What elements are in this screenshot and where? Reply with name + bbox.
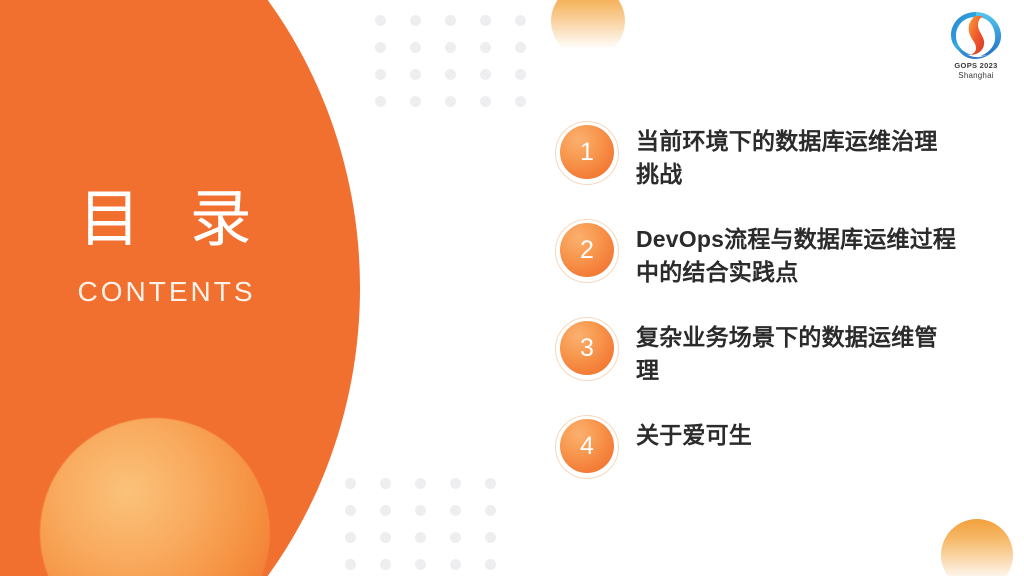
dot: [375, 69, 386, 80]
dot: [450, 559, 461, 570]
dot: [515, 69, 526, 80]
dot: [480, 69, 491, 80]
agenda-badge-3: 3: [552, 314, 620, 384]
agenda-item-label: DevOps流程与数据库运维过程中的结合实践点: [636, 216, 958, 288]
agenda-item-label: 复杂业务场景下的数据运维管理: [636, 314, 958, 386]
badge-number: 3: [560, 321, 614, 375]
dot: [415, 505, 426, 516]
dot: [480, 15, 491, 26]
dot-grid-bottom: [345, 478, 520, 576]
accent-circle-top: [551, 0, 625, 58]
dot: [485, 559, 496, 570]
dot: [515, 15, 526, 26]
dot: [410, 42, 421, 53]
agenda-badge-1: 1: [552, 118, 620, 188]
dot: [515, 42, 526, 53]
page-subtitle: CONTENTS: [0, 276, 330, 308]
dot: [415, 532, 426, 543]
dot: [375, 15, 386, 26]
dot: [415, 559, 426, 570]
dot: [485, 532, 496, 543]
dot: [375, 42, 386, 53]
dot: [380, 478, 391, 489]
badge-number: 2: [560, 223, 614, 277]
dot: [410, 69, 421, 80]
dot: [450, 505, 461, 516]
dot: [445, 15, 456, 26]
agenda-list: 1 当前环境下的数据库运维治理挑战 2 DevOps流程与数据库运维过程中的结合…: [552, 118, 972, 510]
agenda-item-label: 关于爱可生: [636, 412, 752, 452]
logo-line-1: GOPS 2023: [934, 61, 1018, 70]
contents-heading-block: 目 录 CONTENTS: [0, 186, 330, 308]
dot-grid-top: [375, 15, 550, 123]
dot: [380, 532, 391, 543]
dot: [410, 15, 421, 26]
agenda-item-2[interactable]: 2 DevOps流程与数据库运维过程中的结合实践点: [552, 216, 972, 290]
page-title: 目 录: [0, 186, 330, 254]
dot: [415, 478, 426, 489]
dot: [480, 42, 491, 53]
dot: [345, 532, 356, 543]
orange-glow-circle: [40, 418, 270, 576]
dot: [445, 42, 456, 53]
dot: [480, 96, 491, 107]
agenda-item-label: 当前环境下的数据库运维治理挑战: [636, 118, 958, 190]
dot: [345, 559, 356, 570]
dot: [345, 478, 356, 489]
slide-root: 目 录 CONTENTS: [0, 0, 1024, 576]
dot: [380, 505, 391, 516]
dot: [515, 96, 526, 107]
dot: [485, 478, 496, 489]
dot: [450, 532, 461, 543]
gops-emblem-icon: [945, 8, 1007, 60]
accent-circle-bottom-right: [941, 519, 1013, 576]
dot: [485, 505, 496, 516]
dot: [380, 559, 391, 570]
badge-number: 4: [560, 419, 614, 473]
agenda-item-3[interactable]: 3 复杂业务场景下的数据运维管理: [552, 314, 972, 388]
dot: [375, 96, 386, 107]
agenda-item-1[interactable]: 1 当前环境下的数据库运维治理挑战: [552, 118, 972, 192]
dot: [445, 69, 456, 80]
logo-line-2: Shanghai: [934, 71, 1018, 80]
agenda-item-4[interactable]: 4 关于爱可生: [552, 412, 972, 486]
badge-number: 1: [560, 125, 614, 179]
dot: [445, 96, 456, 107]
dot: [345, 505, 356, 516]
agenda-badge-4: 4: [552, 412, 620, 482]
agenda-badge-2: 2: [552, 216, 620, 286]
dot: [410, 96, 421, 107]
dot: [450, 478, 461, 489]
gops-logo: GOPS 2023 Shanghai: [934, 8, 1018, 86]
